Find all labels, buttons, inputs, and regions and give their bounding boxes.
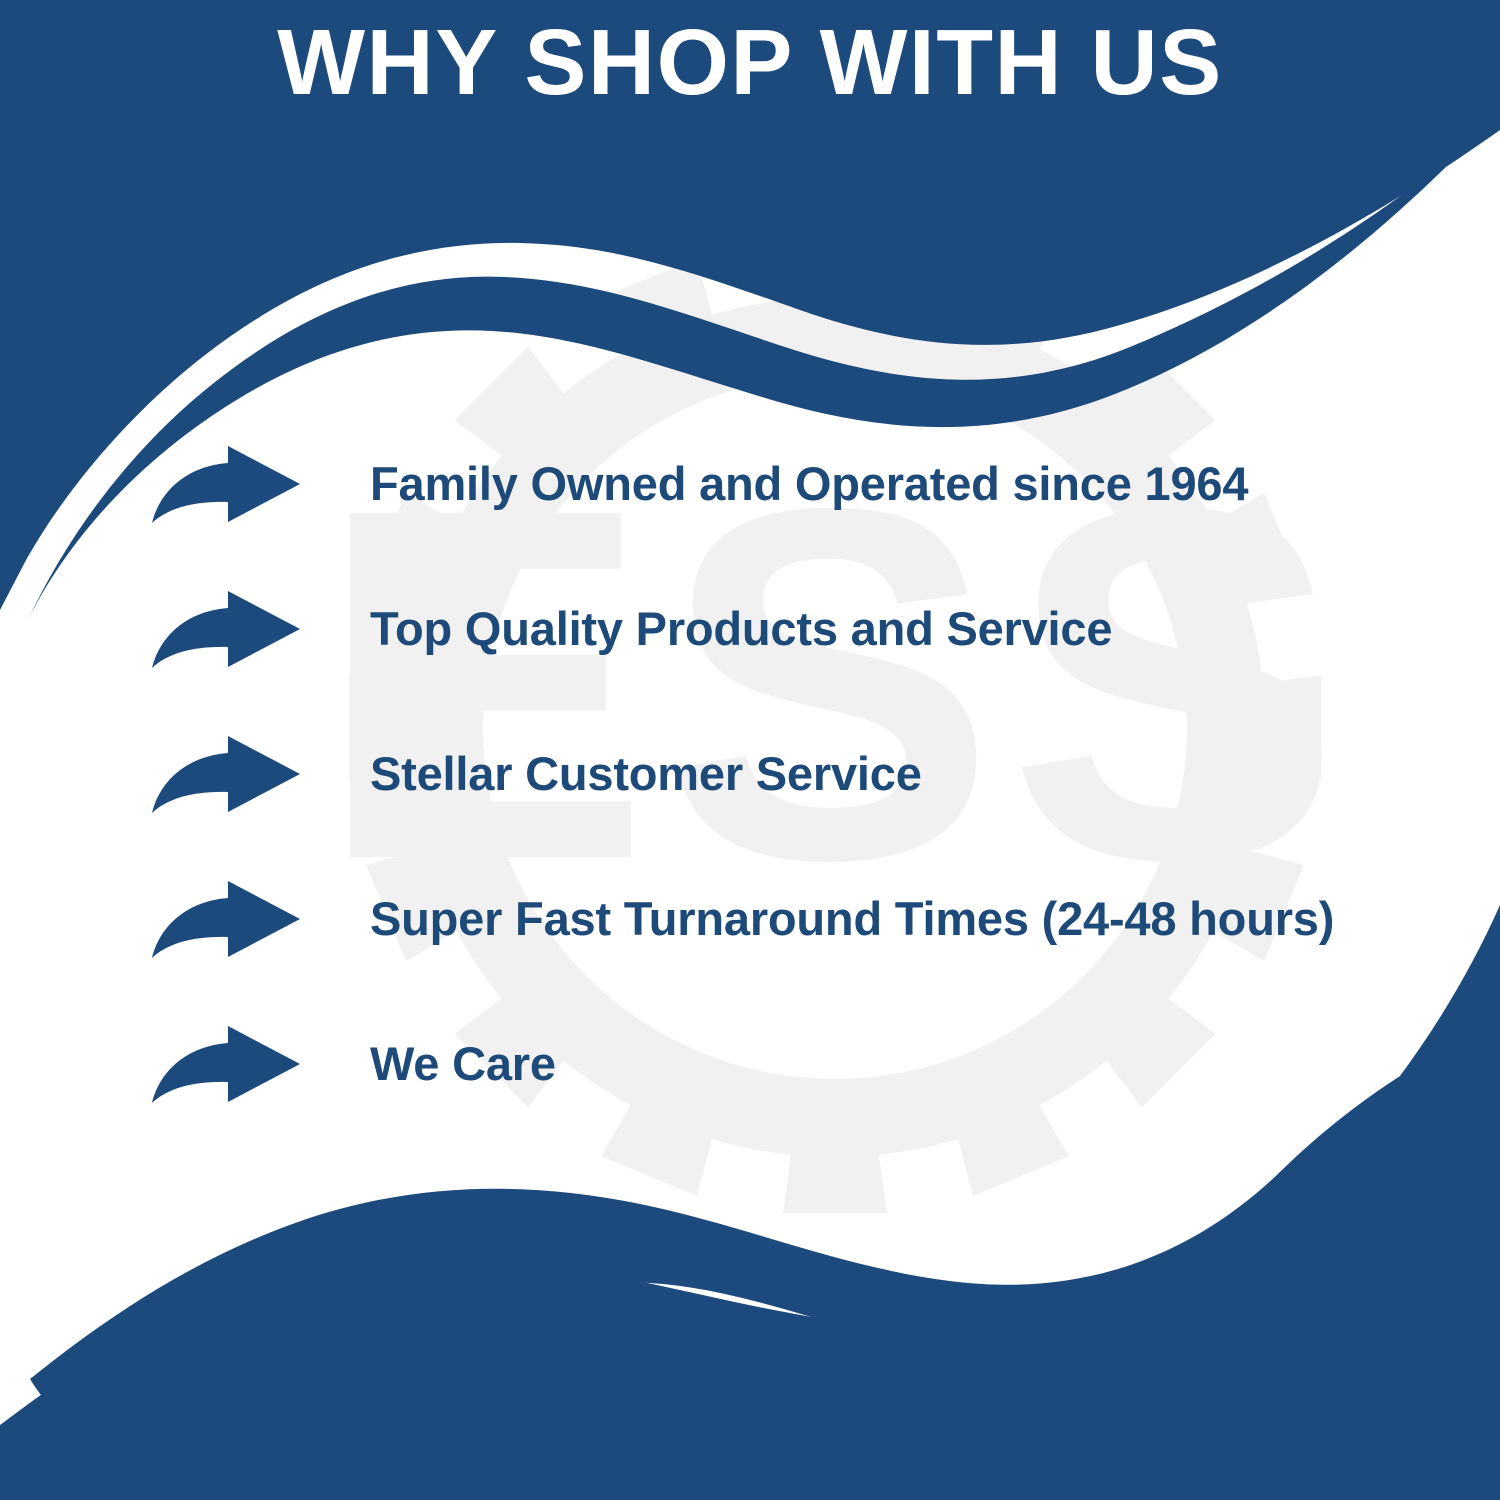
list-item: Super Fast Turnaround Times (24-48 hours… xyxy=(150,867,1450,971)
benefits-list: Family Owned and Operated since 1964 Top… xyxy=(150,432,1450,1116)
list-item-label: Stellar Customer Service xyxy=(370,748,922,800)
curved-arrow-right-icon xyxy=(150,1024,302,1104)
list-item-label: Family Owned and Operated since 1964 xyxy=(370,458,1248,510)
list-item-label: We Care xyxy=(370,1038,556,1090)
curved-arrow-right-icon xyxy=(150,589,302,669)
list-item: We Care xyxy=(150,1012,1450,1116)
list-item: Top Quality Products and Service xyxy=(150,577,1450,681)
curved-arrow-right-icon xyxy=(150,879,302,959)
list-item-label: Top Quality Products and Service xyxy=(370,603,1112,655)
page-title: WHY SHOP WITH US xyxy=(0,14,1500,112)
curved-arrow-right-icon xyxy=(150,444,302,524)
curved-arrow-right-icon xyxy=(150,734,302,814)
promo-banner: ESS WHY SHOP WITH US Family Owned and Op… xyxy=(0,0,1500,1500)
list-item: Family Owned and Operated since 1964 xyxy=(150,432,1450,536)
list-item: Stellar Customer Service xyxy=(150,722,1450,826)
list-item-label: Super Fast Turnaround Times (24-48 hours… xyxy=(370,893,1334,945)
